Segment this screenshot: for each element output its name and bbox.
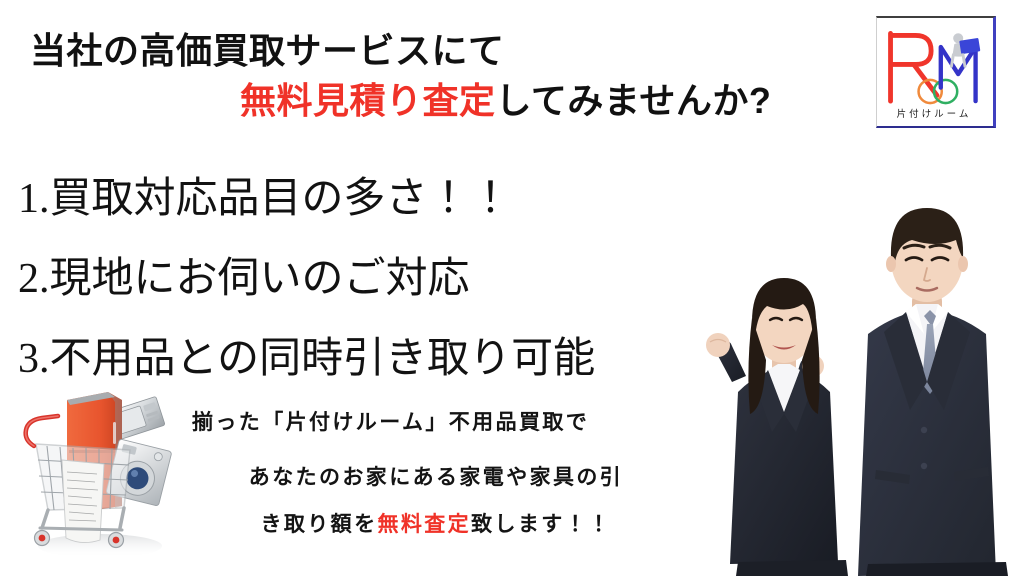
logo-ring-green <box>934 80 957 103</box>
promo-line-2: あなたのお家にある家電や家具の引 <box>186 467 686 488</box>
promo-banner: 当社の高価買取サービスにて 無料見積り査定してみませんか? 片付けルーム <box>0 0 1024 576</box>
promo-line-3-pre: き取り額を <box>260 513 377 536</box>
man-suit-button-2 <box>921 463 927 469</box>
promo-line-1: 揃った「片付けルーム」不用品買取で <box>186 412 686 433</box>
feature-item-3: 3.不用品との同時引き取り可能 <box>18 338 718 380</box>
company-logo[interactable]: 片付けルーム <box>876 16 996 128</box>
promo-emphasis-free-assessment: 無料査定 <box>377 513 471 536</box>
promo-line-3: き取り額を無料査定致します！！ <box>186 514 686 535</box>
headline: 当社の高価買取サービスにて 無料見積り査定してみませんか? <box>0 28 860 124</box>
staff-photo <box>672 182 1024 576</box>
woman-left-fist <box>706 333 730 357</box>
cart-handle-icon <box>26 416 58 446</box>
headline-line-1: 当社の高価買取サービスにて <box>0 28 860 74</box>
feature-list: 1.買取対応品目の多さ！！ 2.現地にお伺いのご対応 3.不用品との同時引き取り… <box>18 178 718 418</box>
promo-paragraph: 揃った「片付けルーム」不用品買取で あなたのお家にある家電や家具の引 き取り額を… <box>186 412 686 535</box>
headline-line-2-tail: してみませんか? <box>496 80 772 121</box>
headline-line-2: 無料見積り査定してみませんか? <box>0 78 860 124</box>
headline-emphasis-free-quote: 無料見積り査定 <box>240 80 496 121</box>
shopping-cart-appliances-illustration <box>12 388 188 568</box>
man-suit-button-1 <box>921 427 927 433</box>
logo-subtitle: 片付けルーム <box>877 106 991 120</box>
promo-line-3-post: 致します！！ <box>471 513 611 536</box>
feature-item-1: 1.買取対応品目の多さ！！ <box>18 178 718 220</box>
feature-item-2: 2.現地にお伺いのご対応 <box>18 258 718 300</box>
